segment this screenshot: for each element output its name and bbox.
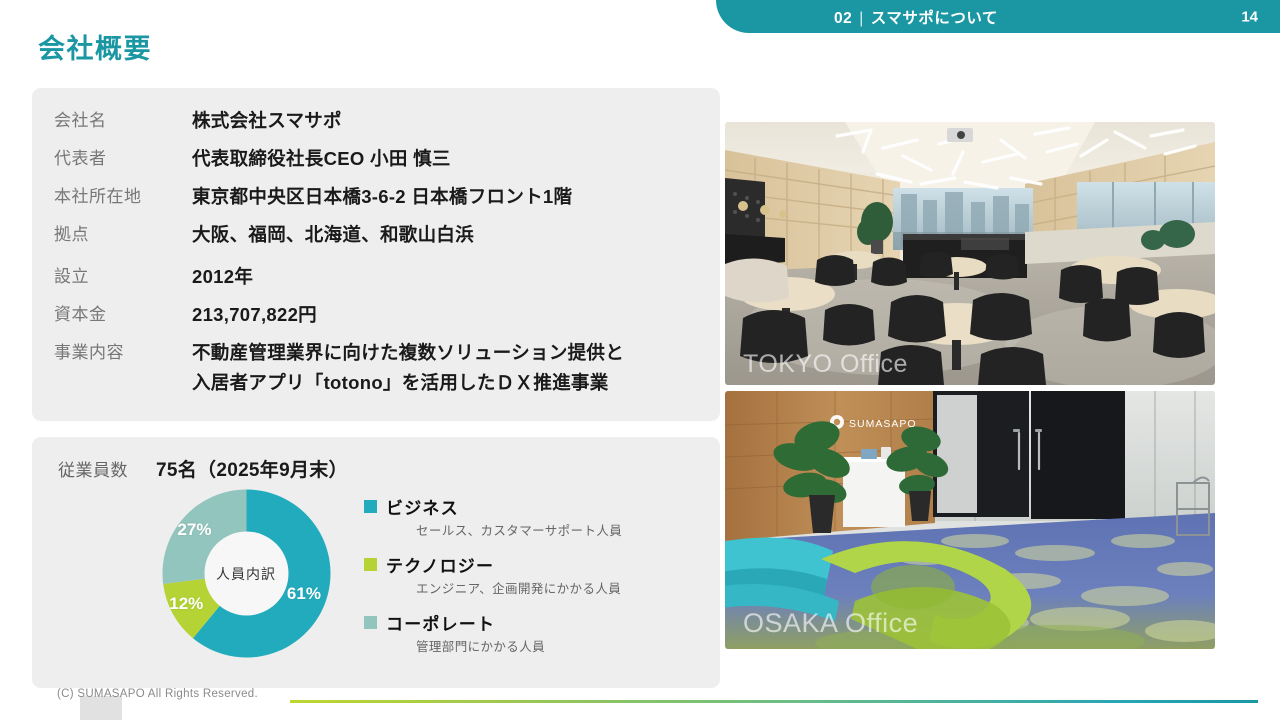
table-row: 会社名 株式会社スマサポ	[32, 106, 720, 136]
legend-label-corporate: コーポレート	[386, 610, 495, 635]
info-value: 大阪、福岡、北海道、和歌山白浜	[192, 220, 474, 250]
legend-label-technology: テクノロジー	[386, 552, 494, 577]
info-value-line2: 入居者アプリ「totono」を活用したＤＸ推進事業	[192, 368, 624, 398]
info-label: 会社名	[54, 106, 192, 136]
donut-slice-label-business: 61%	[287, 584, 321, 604]
donut-slice-label-technology: 12%	[169, 594, 203, 614]
info-value: 213,707,822円	[192, 300, 317, 330]
employee-breakdown-panel: 従業員数 75名（2025年9月末） 人員内訳 61% 12% 27% ビジネス…	[32, 437, 720, 688]
banner-separator: |	[859, 10, 864, 28]
info-label: 設立	[54, 262, 192, 292]
legend-label-business: ビジネス	[386, 494, 459, 519]
page-title: 会社概要	[38, 27, 152, 66]
info-value: 2012年	[192, 262, 253, 292]
donut-slice-label-corporate: 27%	[177, 520, 211, 540]
footer-gradient-line	[290, 700, 1258, 703]
legend-swatch-corporate	[364, 616, 377, 629]
table-row: 資本金 213,707,822円	[32, 300, 720, 330]
legend-desc-business: セールス、カスタマーサポート人員	[416, 520, 622, 539]
table-row: 設立 2012年	[32, 262, 720, 292]
legend-desc-corporate: 管理部門にかかる人員	[416, 636, 622, 655]
info-value: 代表取締役社長CEO 小田 慎三	[192, 144, 451, 174]
employee-count-value: 75名（2025年9月末）	[156, 455, 348, 482]
table-row: 拠点 大阪、福岡、北海道、和歌山白浜	[32, 220, 720, 250]
banner-title: 02|スマサポについて	[834, 6, 998, 28]
employee-count-label: 従業員数	[58, 456, 128, 481]
info-label: 本社所在地	[54, 182, 192, 212]
page-number: 14	[1241, 8, 1258, 25]
legend-item-business: ビジネス セールス、カスタマーサポート人員	[364, 494, 622, 539]
info-label: 資本金	[54, 300, 192, 330]
legend-swatch-business	[364, 500, 377, 513]
employee-count-row: 従業員数 75名（2025年9月末）	[32, 437, 720, 482]
info-label: 拠点	[54, 220, 192, 250]
osaka-office-photo: SUMASAPO	[725, 391, 1215, 649]
table-row: 本社所在地 東京都中央区日本橋3-6-2 日本橋フロント1階	[32, 182, 720, 212]
info-value: 株式会社スマサポ	[192, 106, 342, 136]
banner-section-title: スマサポについて	[871, 10, 998, 27]
info-value: 東京都中央区日本橋3-6-2 日本橋フロント1階	[192, 182, 572, 212]
headcount-donut-chart: 人員内訳 61% 12% 27%	[146, 486, 346, 661]
legend-swatch-technology	[364, 558, 377, 571]
company-info-panel: 会社名 株式会社スマサポ 代表者 代表取締役社長CEO 小田 慎三 本社所在地 …	[32, 88, 720, 421]
table-row: 代表者 代表取締役社長CEO 小田 慎三	[32, 144, 720, 174]
legend-item-technology: テクノロジー エンジニア、企画開発にかかる人員	[364, 552, 622, 597]
donut-center-label: 人員内訳	[216, 564, 276, 584]
svg-text:SUMASAPO: SUMASAPO	[849, 418, 917, 430]
banner-section-number: 02	[834, 10, 852, 27]
chart-legend: ビジネス セールス、カスタマーサポート人員 テクノロジー エンジニア、企画開発に…	[364, 486, 622, 668]
footer-copyright: (C) SUMASAPO All Rights Reserved.	[57, 688, 258, 700]
headcount-chart-area: 人員内訳 61% 12% 27% ビジネス セールス、カスタマーサポート人員 テ…	[32, 486, 720, 668]
info-label: 事業内容	[54, 338, 192, 368]
legend-desc-technology: エンジニア、企画開発にかかる人員	[416, 578, 622, 597]
table-row: 事業内容 不動産管理業界に向けた複数ソリューション提供と 入居者アプリ「toto…	[32, 338, 720, 398]
info-value-line1: 不動産管理業界に向けた複数ソリューション提供と	[192, 338, 624, 368]
info-label: 代表者	[54, 144, 192, 174]
legend-item-corporate: コーポレート 管理部門にかかる人員	[364, 610, 622, 655]
tokyo-office-photo: TOKYO Office	[725, 122, 1215, 385]
section-banner: 02|スマサポについて 14	[716, 0, 1280, 33]
